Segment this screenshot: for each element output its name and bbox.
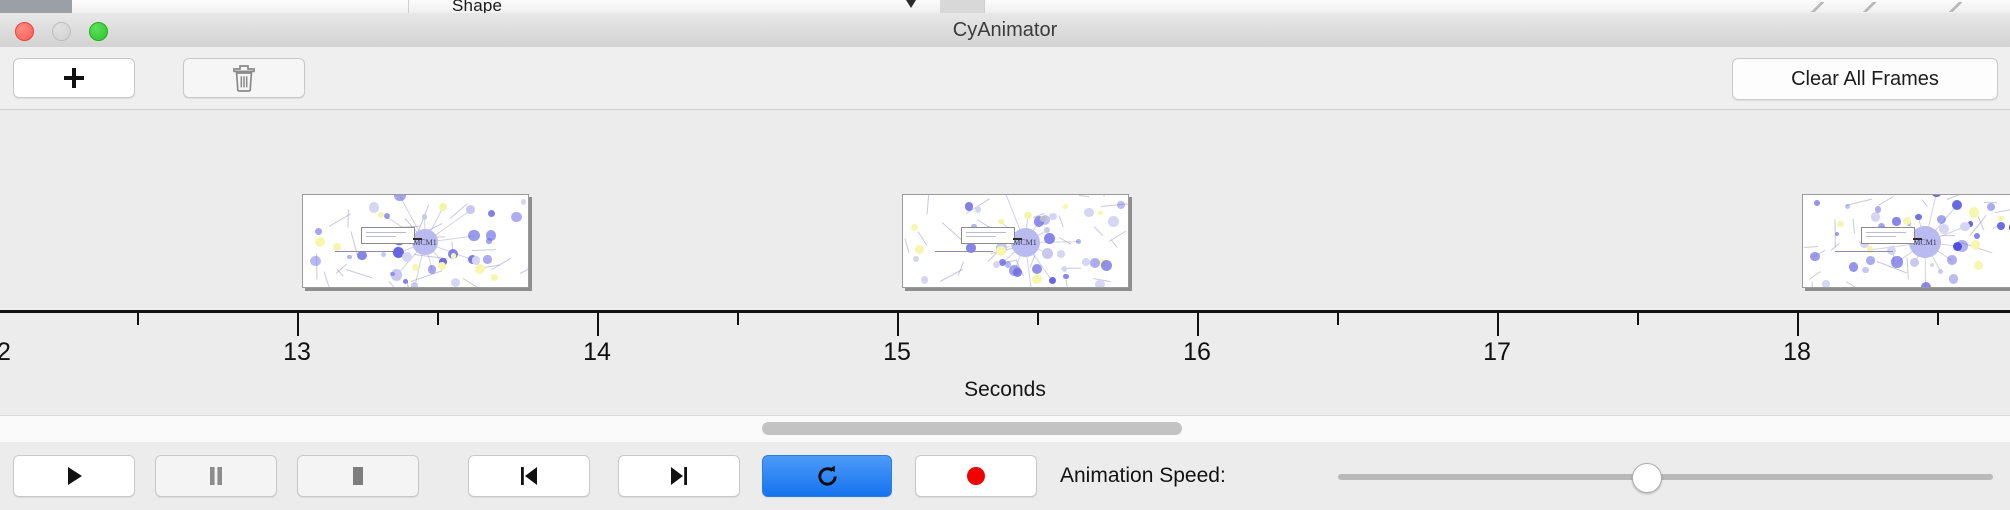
network-node bbox=[439, 203, 447, 211]
pause-icon bbox=[156, 456, 276, 496]
delete-frame-button[interactable] bbox=[183, 58, 305, 98]
network-node bbox=[1866, 256, 1875, 265]
playback-control-bar: Animation Speed: bbox=[0, 442, 2010, 510]
timeline-frame-thumbnail[interactable]: MCM1 bbox=[1802, 194, 2010, 288]
network-node bbox=[996, 246, 1006, 256]
record-icon bbox=[916, 456, 1036, 496]
network-node bbox=[1910, 258, 1919, 267]
network-node bbox=[1042, 248, 1053, 259]
animation-speed-slider[interactable] bbox=[1338, 474, 1993, 480]
network-edge bbox=[1110, 239, 1117, 248]
timeline-tick-major bbox=[1197, 313, 1199, 336]
network-node bbox=[1875, 206, 1882, 213]
skip-to-start-button[interactable] bbox=[468, 455, 590, 497]
network-node bbox=[913, 256, 919, 262]
network-node bbox=[1095, 280, 1105, 288]
network-edge bbox=[1995, 208, 2010, 214]
network-edge bbox=[1093, 227, 1103, 237]
network-node bbox=[1044, 233, 1055, 244]
scrollbar-thumb[interactable] bbox=[762, 422, 1182, 435]
timeline-frame-thumbnail[interactable]: MCM1 bbox=[302, 194, 529, 288]
network-node bbox=[998, 219, 1003, 224]
network-caption-line bbox=[1835, 251, 1893, 252]
network-node bbox=[402, 252, 412, 262]
timeline-tick-minor bbox=[1937, 313, 1939, 325]
network-edge bbox=[1947, 194, 1977, 200]
network-node bbox=[333, 243, 342, 252]
network-node bbox=[357, 251, 366, 260]
network-node bbox=[1024, 212, 1031, 219]
pause-button[interactable] bbox=[155, 455, 277, 497]
network-node bbox=[310, 256, 320, 266]
network-node bbox=[403, 279, 408, 284]
plus-icon bbox=[14, 59, 134, 97]
network-node bbox=[1947, 255, 1957, 265]
timeline-axis-line bbox=[0, 310, 2010, 313]
background-window-titlebar bbox=[0, 0, 72, 13]
network-node bbox=[1108, 216, 1119, 227]
timeline-tick-label: 16 bbox=[1183, 338, 1211, 367]
background-resize-grip-1-icon bbox=[1810, 2, 1824, 12]
network-node bbox=[468, 230, 480, 242]
network-node bbox=[1032, 264, 1042, 274]
background-resize-grip-2-icon bbox=[1862, 2, 1876, 12]
network-node bbox=[422, 214, 427, 219]
skip-to-end-button[interactable] bbox=[618, 455, 740, 497]
network-edge bbox=[958, 261, 964, 275]
network-node bbox=[466, 205, 475, 214]
network-node bbox=[1974, 261, 1982, 269]
network-node bbox=[483, 255, 491, 263]
network-edge bbox=[1907, 257, 1909, 279]
network-caption-line bbox=[335, 251, 393, 252]
network-node bbox=[1974, 233, 1980, 239]
network-edge bbox=[1853, 218, 1856, 233]
network-node bbox=[451, 278, 461, 288]
network-node bbox=[1997, 222, 2005, 230]
network-node bbox=[1057, 250, 1065, 258]
network-node bbox=[1871, 212, 1881, 222]
titlebar[interactable]: CyAnimator bbox=[0, 13, 2010, 48]
network-edge bbox=[1942, 235, 1955, 236]
network-node bbox=[1953, 242, 1962, 251]
network-node bbox=[491, 274, 498, 281]
network-edge bbox=[1845, 281, 1858, 288]
network-edge bbox=[1079, 195, 1089, 197]
network-node bbox=[1013, 268, 1022, 277]
tooltip-pointer bbox=[413, 238, 422, 240]
network-edge bbox=[324, 271, 333, 288]
tooltip-text-line bbox=[366, 232, 406, 233]
network-node bbox=[1000, 194, 1009, 195]
network-edge bbox=[348, 210, 349, 228]
network-node bbox=[1987, 203, 1995, 211]
stop-icon bbox=[298, 456, 418, 496]
timeline-tick-minor bbox=[1337, 313, 1339, 325]
timeline-tick-minor bbox=[1637, 313, 1639, 325]
loop-icon bbox=[763, 456, 891, 496]
network-node bbox=[411, 282, 418, 288]
window-title: CyAnimator bbox=[0, 13, 2010, 47]
network-node bbox=[911, 224, 918, 231]
play-icon bbox=[14, 456, 134, 496]
network-node bbox=[1937, 215, 1946, 224]
add-frame-button[interactable] bbox=[13, 58, 135, 98]
network-node bbox=[1921, 282, 1931, 288]
trash-icon bbox=[184, 59, 304, 97]
network-node bbox=[1930, 263, 1934, 267]
network-node bbox=[1040, 215, 1050, 225]
skip-forward-icon bbox=[619, 456, 739, 496]
background-tab-3 bbox=[242, 0, 305, 14]
timeline-tick-major bbox=[1797, 313, 1799, 336]
network-edge bbox=[411, 270, 443, 282]
network-node bbox=[511, 212, 522, 223]
network-edge bbox=[492, 257, 512, 269]
network-tooltip bbox=[361, 227, 415, 244]
timeline-tick-label: 18 bbox=[1783, 338, 1811, 367]
timeline-tick-minor bbox=[1037, 313, 1039, 325]
network-node bbox=[1892, 217, 1900, 225]
timeline-tick-major bbox=[297, 313, 299, 336]
timeline-frame-thumbnail[interactable]: MCM1 bbox=[902, 194, 1129, 288]
timeline-tick-label: 17 bbox=[1483, 338, 1511, 367]
network-edge bbox=[1059, 215, 1064, 227]
network-node bbox=[1837, 221, 1843, 227]
network-node bbox=[1084, 208, 1094, 218]
network-caption-line bbox=[935, 251, 993, 252]
network-node bbox=[1835, 232, 1839, 236]
network-node bbox=[488, 210, 495, 217]
network-edge bbox=[1812, 282, 1814, 288]
network-node bbox=[1952, 200, 1962, 210]
network-node bbox=[451, 253, 457, 259]
network-node bbox=[347, 255, 351, 259]
network-node bbox=[915, 245, 924, 254]
timeline-axis-title: Seconds bbox=[0, 378, 2010, 402]
background-resize-grip-3-icon bbox=[1948, 2, 1962, 12]
background-tab-1 bbox=[72, 0, 183, 14]
network-edge bbox=[904, 238, 909, 252]
network-tooltip bbox=[1861, 227, 1915, 244]
timeline-tick-major bbox=[597, 313, 599, 336]
tooltip-text-line bbox=[1866, 232, 1906, 233]
network-graph-preview: MCM1 bbox=[303, 195, 528, 287]
background-tab-5 bbox=[940, 0, 985, 14]
network-edge bbox=[1066, 280, 1072, 288]
network-node bbox=[1938, 269, 1943, 274]
timeline-tick-minor bbox=[737, 313, 739, 325]
tooltip-text-line bbox=[966, 236, 996, 237]
network-edge bbox=[463, 278, 484, 288]
network-node bbox=[1960, 222, 1969, 231]
background-tab-2 bbox=[182, 0, 243, 14]
timeline-tick-label: 12 bbox=[0, 338, 11, 367]
network-node bbox=[438, 262, 446, 270]
tooltip-text-line bbox=[1866, 236, 1896, 237]
network-edge bbox=[472, 249, 496, 251]
network-node bbox=[1049, 213, 1056, 220]
network-node bbox=[486, 230, 497, 241]
tooltip-text-line bbox=[366, 236, 396, 237]
network-edge bbox=[1878, 196, 1894, 206]
network-node bbox=[381, 252, 386, 257]
network-node bbox=[1117, 201, 1125, 209]
network-node bbox=[1005, 261, 1012, 268]
network-edge bbox=[926, 194, 929, 214]
network-edge bbox=[520, 264, 529, 274]
network-node bbox=[1915, 214, 1921, 220]
animation-speed-label: Animation Speed: bbox=[1060, 455, 1226, 497]
timeline-tick-label: 13 bbox=[283, 338, 311, 367]
stop-button[interactable] bbox=[297, 455, 419, 497]
timeline-tick-major bbox=[897, 313, 899, 336]
network-node bbox=[1062, 266, 1067, 271]
network-edge bbox=[346, 269, 372, 278]
skip-back-icon bbox=[469, 456, 589, 496]
record-button[interactable] bbox=[915, 455, 1037, 497]
network-node bbox=[1949, 274, 1958, 283]
toolbar: Clear All Frames bbox=[0, 47, 2010, 110]
network-node bbox=[1931, 194, 1942, 197]
network-node bbox=[369, 202, 379, 212]
network-node bbox=[1027, 287, 1036, 288]
tooltip-pointer bbox=[1013, 238, 1022, 240]
background-caret-icon bbox=[906, 0, 916, 8]
network-node bbox=[521, 199, 527, 205]
timeline-tick-minor bbox=[437, 313, 439, 325]
timeline-tick-label: 15 bbox=[883, 338, 911, 367]
network-edge bbox=[1104, 194, 1105, 197]
network-node bbox=[315, 237, 325, 247]
network-edge bbox=[1108, 231, 1126, 243]
network-node bbox=[1814, 200, 1820, 206]
network-tooltip bbox=[961, 227, 1015, 244]
network-graph-preview: MCM1 bbox=[903, 195, 1128, 287]
network-node bbox=[1063, 204, 1068, 209]
background-tab-4 bbox=[304, 0, 409, 14]
network-graph-preview: MCM1 bbox=[1803, 195, 2010, 287]
network-node bbox=[1891, 256, 1902, 267]
network-node bbox=[1032, 274, 1043, 285]
timeline-tick-label: 14 bbox=[583, 338, 611, 367]
tooltip-pointer bbox=[1913, 238, 1922, 240]
network-edge bbox=[1922, 200, 1928, 208]
network-edge bbox=[918, 231, 927, 245]
network-node bbox=[1098, 211, 1102, 215]
network-node bbox=[1049, 277, 1056, 284]
network-node bbox=[1845, 204, 1850, 209]
network-node bbox=[390, 272, 395, 277]
network-node bbox=[1810, 252, 1819, 261]
network-node bbox=[1822, 280, 1830, 288]
timeline-tick-minor bbox=[137, 313, 139, 325]
animation-speed-slider-handle[interactable] bbox=[1632, 463, 1662, 493]
network-node bbox=[315, 228, 322, 235]
timeline-panel[interactable]: MCM1MCM1MCM1 12131415161718 Seconds bbox=[0, 110, 2010, 415]
loop-button[interactable] bbox=[762, 455, 892, 497]
network-node bbox=[1101, 260, 1112, 271]
network-hub-node: MCM1 bbox=[412, 229, 438, 255]
network-node bbox=[965, 202, 973, 210]
network-node bbox=[1998, 216, 2004, 222]
clear-all-frames-button[interactable]: Clear All Frames bbox=[1732, 58, 1998, 100]
play-button[interactable] bbox=[13, 455, 135, 497]
network-node bbox=[1063, 274, 1069, 280]
network-node bbox=[1090, 258, 1100, 268]
network-node bbox=[394, 194, 405, 201]
network-node bbox=[1082, 258, 1090, 266]
cyanimator-window: Shape CyAnimator bbox=[0, 0, 2010, 510]
network-node bbox=[993, 261, 1001, 269]
network-node bbox=[921, 276, 928, 283]
network-node bbox=[475, 264, 485, 274]
network-edge bbox=[1808, 271, 1820, 280]
timeline-tick-major bbox=[1497, 313, 1499, 336]
network-edge bbox=[1804, 246, 1818, 248]
network-node bbox=[1849, 262, 1859, 272]
network-node bbox=[975, 206, 981, 212]
network-node bbox=[1862, 267, 1869, 274]
tooltip-text-line bbox=[966, 232, 1006, 233]
network-node bbox=[1076, 239, 1081, 244]
timeline-horizontal-scrollbar[interactable] bbox=[0, 415, 2010, 443]
